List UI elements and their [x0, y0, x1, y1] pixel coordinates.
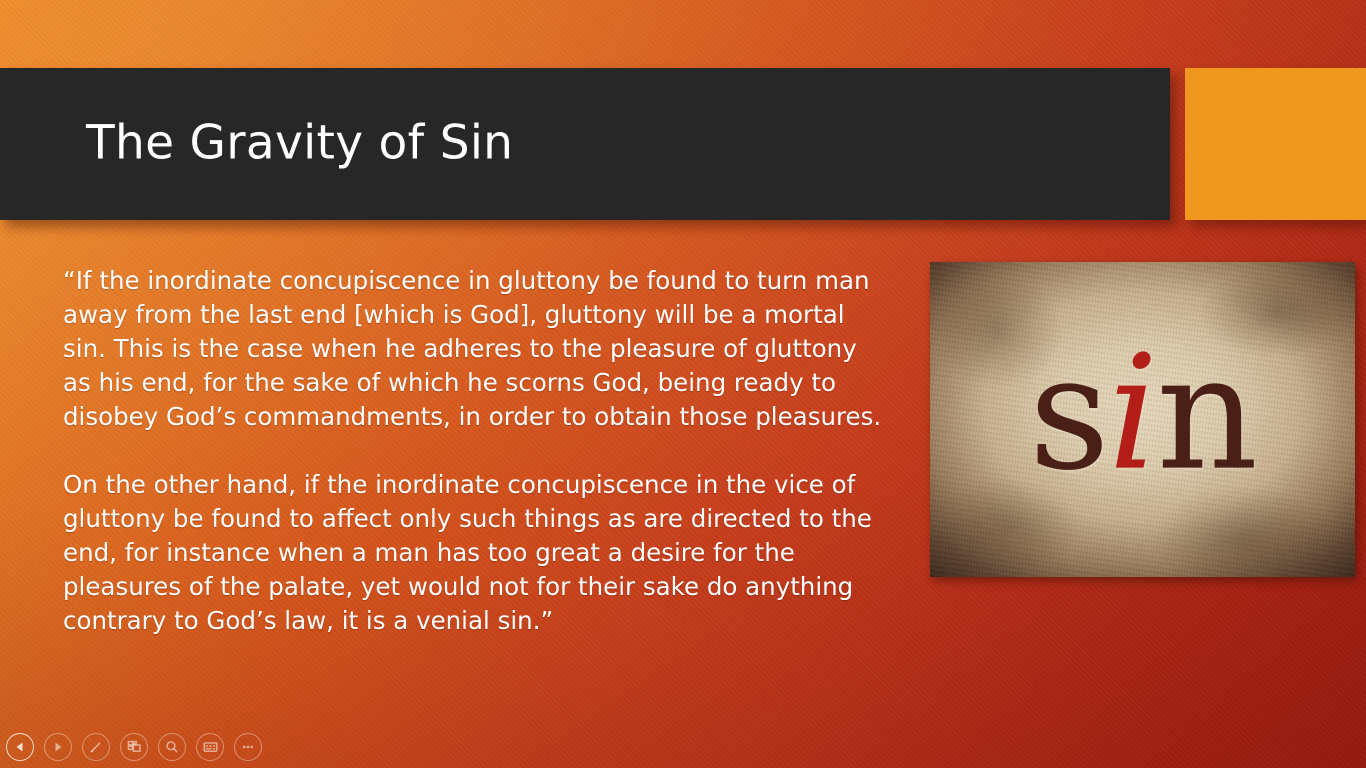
sin-image: sin [930, 262, 1355, 577]
sin-image-word: sin [930, 334, 1355, 492]
page-title: The Gravity of Sin [86, 120, 513, 167]
slideshow-toolbar [6, 733, 262, 761]
slides-grid-icon [126, 739, 143, 755]
body-content: “If the inordinate concupiscence in glut… [63, 264, 891, 638]
more-options-button[interactable] [234, 733, 262, 761]
title-band: The Gravity of Sin [0, 68, 1170, 220]
pen-icon [88, 739, 104, 755]
pen-tool-button[interactable] [82, 733, 110, 761]
magnifier-icon [164, 739, 180, 755]
accent-block [1185, 68, 1366, 220]
paragraph-2: On the other hand, if the inordinate con… [63, 468, 891, 638]
sin-letter-n: n [1156, 321, 1256, 505]
zoom-button[interactable] [158, 733, 186, 761]
paragraph-1: “If the inordinate concupiscence in glut… [63, 264, 891, 434]
triangle-left-icon [13, 740, 27, 754]
next-slide-button[interactable] [44, 733, 72, 761]
previous-slide-button[interactable] [6, 733, 34, 761]
presentation-slide: The Gravity of Sin “If the inordinate co… [0, 0, 1366, 768]
ellipsis-icon [240, 739, 256, 755]
subtitles-button[interactable] [196, 733, 224, 761]
sin-letter-s: s [1029, 321, 1108, 505]
caption-box-icon [202, 740, 219, 754]
sin-letter-i: i [1108, 321, 1157, 505]
triangle-right-icon [51, 740, 65, 754]
all-slides-button[interactable] [120, 733, 148, 761]
